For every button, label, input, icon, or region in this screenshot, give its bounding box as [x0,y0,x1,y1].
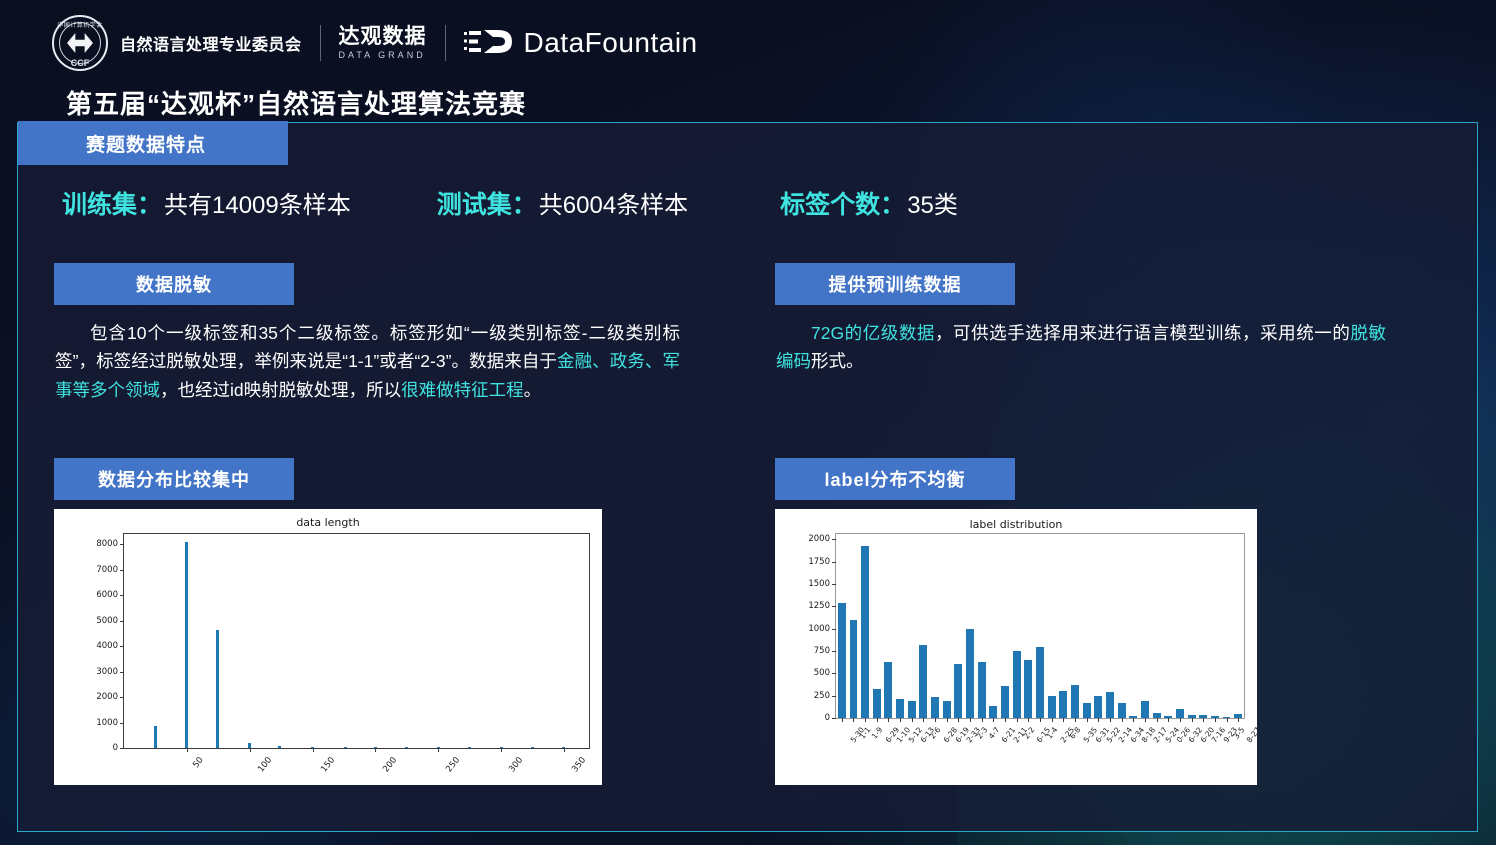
label-distribution-bar [873,689,881,718]
chart-title-data-length: data length [54,516,602,529]
histogram-bar [278,746,281,748]
chip-data-desensitization: 数据脱敏 [54,263,294,305]
y-axis-tick: 0 [113,743,124,753]
label-distribution-bar [1059,691,1067,718]
x-axis-mark [1203,718,1204,722]
histogram-bar [344,747,347,748]
header-divider-1 [320,25,321,61]
histogram-bar [248,743,251,748]
page-title: 第五届“达观杯”自然语言处理算法竞赛 [66,84,526,121]
datagrand-en-label: DATA GRAND [339,50,427,60]
x-axis-mark [1227,718,1228,722]
highlighted-text: 很难做特征工程 [401,380,524,400]
datafountain-logo: DataFountain [464,27,698,59]
ccf-seal-top-text: 中国计算机学会 [57,20,103,29]
x-axis-mark [1005,718,1006,722]
histogram-bar [531,747,534,748]
y-axis-tick: 2000 [96,692,124,702]
x-axis-mark [842,718,843,722]
x-axis-mark [1098,718,1099,722]
x-axis-mark [250,748,251,752]
label-distribution-bar [919,645,927,718]
histogram-bar [154,726,157,748]
x-axis-tick: 8-27 [1245,725,1263,744]
label-distribution-bar [1141,701,1149,718]
y-axis-tick: 0 [825,713,836,723]
y-axis-tick: 4000 [96,641,124,651]
x-axis-mark [1215,718,1216,722]
y-axis-tick: 1000 [96,718,124,728]
label-distribution-bar [966,629,974,718]
datafountain-text-label: DataFountain [524,27,698,59]
label-distribution-bar [978,662,986,718]
chip-label-imbalance: label分布不均衡 [775,458,1015,500]
slide-root: 中国计算机学会 CCF 自然语言处理专业委员会 达观数据 DATA GRAND … [0,0,1496,845]
x-axis-mark [313,748,314,752]
label-distribution-bar [838,603,846,718]
label-distribution-bar [1071,685,1079,718]
chip-label-imbalance-label: label分布不均衡 [824,466,965,492]
x-axis-mark [1133,718,1134,722]
chart-card-data-length: data length 0100020003000400050006000700… [54,509,602,785]
label-distribution-bar [1176,709,1184,718]
label-distribution-bar [1013,651,1021,718]
x-axis-mark [1180,718,1181,722]
histogram-bar [562,747,565,748]
histogram-bar [185,542,188,748]
x-axis-tick: 350 [570,755,588,774]
plot-area-label-distribution: 0250500750100012501500175020005-301-11-9… [835,533,1245,719]
histogram-bar [468,747,471,748]
x-axis-mark [1028,718,1029,722]
x-axis-mark [853,718,854,722]
datagrand-cn-label: 达观数据 [339,26,427,48]
y-axis-tick: 2000 [808,534,836,544]
x-axis-mark [501,748,502,752]
y-axis-tick: 6000 [96,590,124,600]
body-text-run: ，可供选手选择用来进行语言模型训练，采用统一的 [935,323,1350,343]
stat-train-value: 共有14009条样本 [164,185,351,220]
x-axis-mark [187,748,188,752]
chart-title-label-distribution: label distribution [775,518,1257,531]
label-distribution-bar [1094,696,1102,719]
chip-data-concentrated: 数据分布比较集中 [54,458,294,500]
panel-tab-label: 赛题数据特点 [86,130,206,157]
x-axis-mark [993,718,994,722]
label-distribution-bar [943,701,951,718]
stat-label-count: 标签个数： 35类 [780,185,958,221]
label-distribution-bar [896,699,904,718]
y-axis-tick: 1000 [808,624,836,634]
y-axis-tick: 500 [814,668,836,678]
highlighted-text: 72G的亿级数据 [811,323,935,343]
stat-test-value: 共6004条样本 [539,185,688,220]
x-axis-mark [1040,718,1041,722]
body-text-run: 形式。 [811,351,864,371]
stat-train-set: 训练集： 共有14009条样本 [62,185,351,221]
x-axis-mark [1087,718,1088,722]
body-text-run: 。 [524,380,542,400]
x-axis-mark [1017,718,1018,722]
chip-pretrain-data-label: 提供预训练数据 [829,271,962,297]
label-distribution-bar [1083,703,1091,718]
datagrand-brand: 达观数据 DATA GRAND [339,26,427,60]
histogram-bar [500,747,503,748]
y-axis-tick: 1500 [808,579,836,589]
x-axis-mark [1157,718,1158,722]
label-distribution-bar [1048,696,1056,718]
label-distribution-bar [1036,647,1044,718]
x-axis-mark [877,718,878,722]
y-axis-tick: 7000 [96,565,124,575]
paragraph-data-desensitization: 包含10个一级标签和35个二级标签。标签形如“一级类别标签-二级类别标签”，标签… [55,319,680,404]
content-panel: 赛题数据特点 训练集： 共有14009条样本 测试集： 共6004条样本 标签个… [17,122,1478,832]
x-axis-mark [935,718,936,722]
x-axis-mark [1075,718,1076,722]
label-distribution-bar [861,546,869,718]
stat-test-key: 测试集： [437,185,537,221]
y-axis-tick: 250 [814,691,836,701]
label-distribution-bar [931,697,939,718]
chart-card-label-distribution: label distribution 025050075010001250150… [775,509,1257,785]
x-axis-mark [1145,718,1146,722]
paragraph-pretrain-data: 72G的亿级数据，可供选手选择用来进行语言模型训练，采用统一的脱敏编码形式。 [776,319,1386,376]
datafountain-mark-icon [464,28,514,58]
stat-label-key: 标签个数： [780,185,905,221]
label-distribution-bar [1106,692,1114,718]
label-distribution-bar [1024,660,1032,718]
histogram-bar [374,747,377,748]
x-axis-tick: 250 [444,755,462,774]
x-axis-mark [888,718,889,722]
y-axis-tick: 5000 [96,616,124,626]
histogram-bar [216,630,219,748]
label-distribution-bar [850,620,858,718]
ccf-seal-icon: 中国计算机学会 CCF [52,15,108,71]
x-axis-mark [1122,718,1123,722]
stats-row: 训练集： 共有14009条样本 测试集： 共6004条样本 标签个数： 35类 [58,185,1438,221]
x-axis-mark [1192,718,1193,722]
panel-tab-header: 赛题数据特点 [18,121,288,165]
x-axis-mark [1238,718,1239,722]
histogram-bar [437,747,440,748]
x-axis-mark [438,748,439,752]
x-axis-mark [958,718,959,722]
histogram-bar [311,747,314,748]
ccf-seal-bottom-text: CCF [71,58,90,68]
x-axis-mark [912,718,913,722]
chip-data-desensitization-label: 数据脱敏 [136,271,212,297]
x-axis-mark [923,718,924,722]
x-axis-tick: 50 [191,755,206,770]
label-distribution-bar [954,664,962,718]
x-axis-mark [1052,718,1053,722]
y-axis-tick: 1750 [808,557,836,567]
body-text-run: ，也经过id映射脱敏处理，所以 [160,380,401,400]
stat-label-value: 35类 [907,185,958,220]
x-axis-mark [947,718,948,722]
x-axis-mark [1168,718,1169,722]
x-axis-tick: 300 [507,755,525,774]
x-axis-mark [375,748,376,752]
x-axis-tick: 100 [256,755,274,774]
x-axis-mark [982,718,983,722]
x-axis-tick: 150 [319,755,337,774]
label-distribution-bar [1001,686,1009,718]
x-axis-mark [1110,718,1111,722]
ccf-lens-icon [67,33,93,53]
label-distribution-bar [884,662,892,718]
header-divider-2 [445,25,446,61]
org-name-label: 自然语言处理专业委员会 [120,31,302,55]
y-axis-tick: 750 [814,646,836,656]
x-axis-mark [900,718,901,722]
y-axis-tick: 3000 [96,667,124,677]
x-axis-mark [564,748,565,752]
label-distribution-bar [908,701,916,718]
chip-pretrain-data: 提供预训练数据 [775,263,1015,305]
header-logo-bar: 中国计算机学会 CCF 自然语言处理专业委员会 达观数据 DATA GRAND … [52,14,698,72]
x-axis-mark [1063,718,1064,722]
chip-data-concentrated-label: 数据分布比较集中 [98,466,250,492]
x-axis-mark [970,718,971,722]
y-axis-tick: 8000 [96,539,124,549]
stat-train-key: 训练集： [62,185,162,221]
x-axis-tick: 200 [382,755,400,774]
plot-area-data-length: 0100020003000400050006000700080005010015… [123,533,590,749]
y-axis-tick: 1250 [808,601,836,611]
label-distribution-bar [989,706,997,718]
label-distribution-bar [1118,703,1126,718]
x-axis-mark [865,718,866,722]
stat-test-set: 测试集： 共6004条样本 [437,185,688,221]
histogram-bar [405,747,408,748]
